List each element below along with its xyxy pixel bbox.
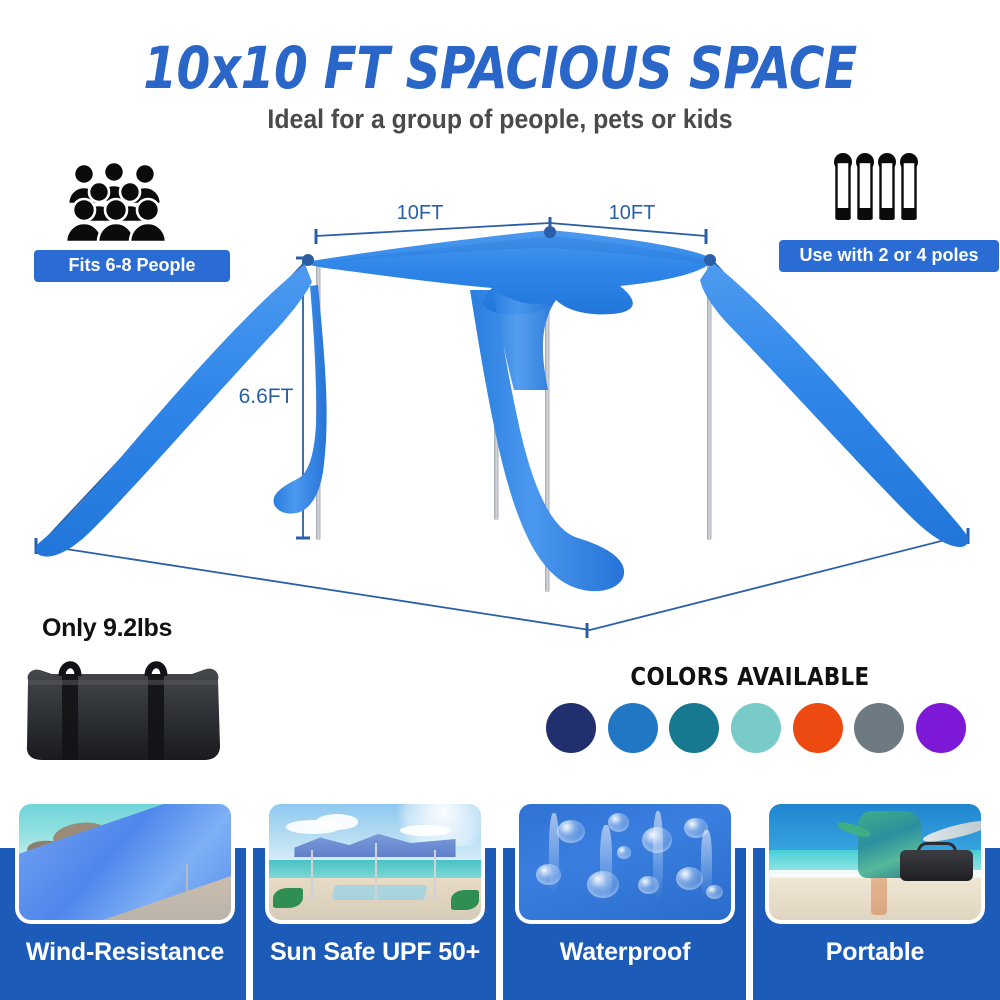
feature-thumbnail-wind [19,804,231,920]
height-label: 6.6FT [239,385,294,408]
page-subtitle: Ideal for a group of people, pets or kid… [40,104,960,135]
feature-label: Portable [750,938,1000,967]
width-left-label: 10FT [397,202,444,224]
bag-weight-label: Only 9.2lbs [42,614,172,643]
feature-thumbnail-sun [269,804,481,920]
feature-wind-resistance: Wind-Resistance [0,848,250,1000]
color-swatch-purple[interactable] [916,703,966,753]
page-title: 10x10 FT SPACIOUS SPACE [35,34,965,102]
feature-thumbnail-portable [769,804,981,920]
width-right-label: 10FT [609,202,656,224]
color-swatch-teal[interactable] [669,703,719,753]
canopy-fabric [36,230,969,591]
color-swatch-light-teal[interactable] [731,703,781,753]
color-swatch-list [546,700,966,756]
feature-label: Waterproof [500,938,750,967]
color-swatch-orange[interactable] [793,703,843,753]
feature-divider [496,848,503,1000]
feature-label: Wind-Resistance [0,938,250,967]
color-swatch-blue[interactable] [608,703,658,753]
feature-waterproof: Waterproof [500,848,750,1000]
color-swatch-gray[interactable] [854,703,904,753]
feature-divider [246,848,253,1000]
infographic-page: 10x10 FT SPACIOUS SPACE Ideal for a grou… [0,0,1000,1000]
colors-available-title: COLORS AVAILABLE [551,662,950,691]
feature-sun-safe: Sun Safe UPF 50+ [250,848,500,1000]
color-swatch-navy[interactable] [546,703,596,753]
carry-bag-image [22,650,224,762]
feature-label: Sun Safe UPF 50+ [250,938,500,967]
feature-portable: Portable [750,848,1000,1000]
feature-divider [746,848,753,1000]
tent-diagram: 10FT 10FT 6.6FT [0,190,1000,650]
feature-thumbnail-waterproof [519,804,731,920]
